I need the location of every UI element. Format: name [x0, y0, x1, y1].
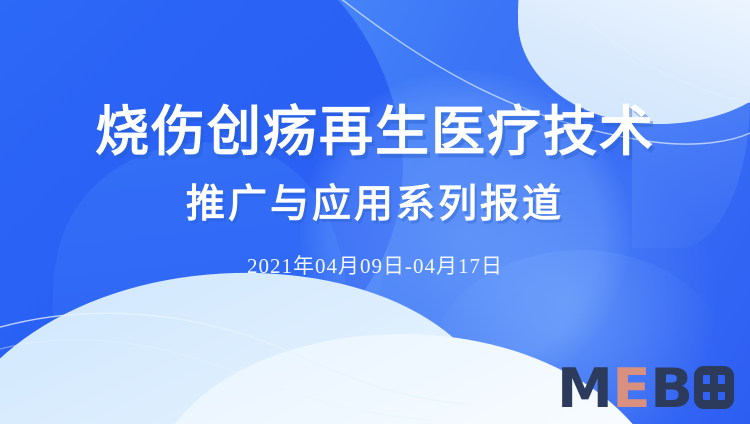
- logo-letter-e: E: [612, 368, 649, 410]
- date-range-label: 2021年04月09日-04月17日: [247, 250, 503, 280]
- mebo-logo: M E B: [558, 358, 734, 410]
- page-subtitle: 推广与应用系列报道: [186, 185, 564, 226]
- page-title: 烧伤创疡再生医疗技术: [95, 104, 655, 159]
- promo-poster: 烧伤创疡再生医疗技术 推广与应用系列报道 2021年04月09日-04月17日 …: [0, 0, 750, 424]
- logo-o-cross-horizontal: [698, 384, 730, 392]
- logo-letter-m: M: [557, 368, 612, 410]
- logo-letter-o-medical-cross-icon: [694, 366, 734, 409]
- logo-letter-b: B: [650, 368, 692, 410]
